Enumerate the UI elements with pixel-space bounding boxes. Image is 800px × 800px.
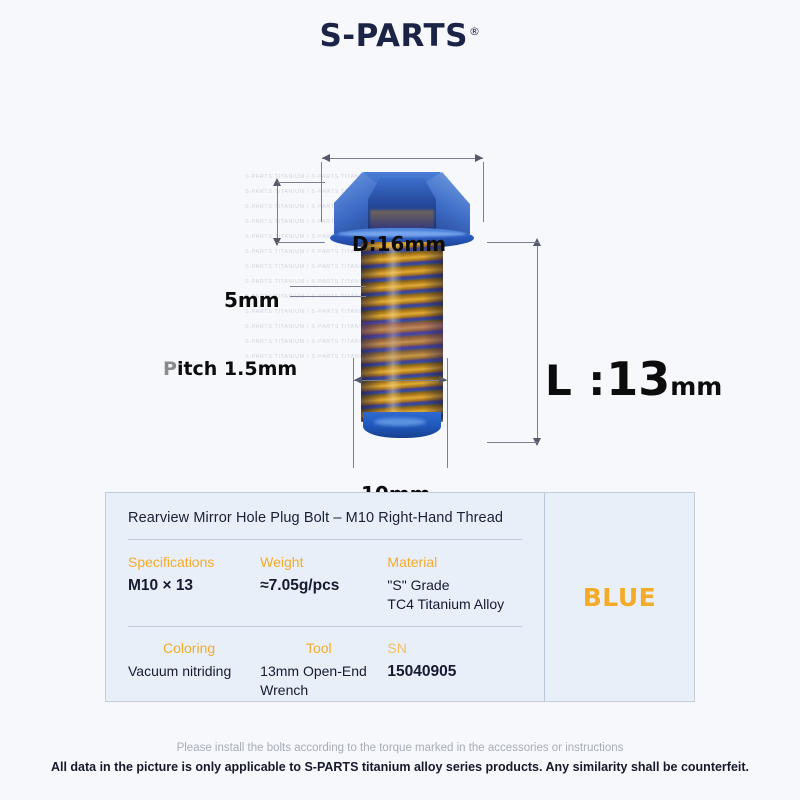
spec-value-tool-line2: Wrench <box>260 681 377 700</box>
dimension-extension-line-left-d <box>321 162 322 222</box>
spec-label-material: Material <box>387 554 534 570</box>
bolt-length-unit: mm <box>670 372 722 401</box>
spec-label-specifications: Specifications <box>128 554 250 570</box>
dimension-extension-line-bottom-length <box>487 442 539 443</box>
dimension-extension-line-bottom-head <box>277 242 325 243</box>
spec-cell-tool: Tool 13mm Open-End Wrench <box>260 640 387 700</box>
dimension-arrow-right-d <box>475 154 483 162</box>
dimension-arrow-right-shaft <box>439 376 447 384</box>
specification-main-panel: Rearview Mirror Hole Plug Bolt – M10 Rig… <box>106 493 544 701</box>
thread-pitch-label: Pitch 1.5mm <box>163 358 297 380</box>
bolt-head-iridescence <box>370 210 434 230</box>
thread-pitch-label-prefix: P <box>163 358 177 380</box>
bolt-length-value: 13 <box>606 352 670 406</box>
pitch-leader-line-upper <box>290 286 366 287</box>
spec-label-coloring: Coloring <box>128 640 250 656</box>
dimension-extension-line-top-head <box>277 182 325 183</box>
spec-value-tool-line1: 13mm Open-End <box>260 662 377 681</box>
installation-note: Please install the bolts according to th… <box>0 742 800 754</box>
specification-table: Rearview Mirror Hole Plug Bolt – M10 Rig… <box>105 492 695 702</box>
thread-pitch-label-rest: itch 1.5mm <box>177 358 297 380</box>
head-height-label: 5mm <box>224 288 280 312</box>
color-panel: BLUE <box>544 493 694 701</box>
product-illustration: S-PARTS TITANIUM / S-PARTS TITANIUM / S-… <box>0 90 800 450</box>
dimension-line-length <box>537 242 538 442</box>
spec-label-sn: SN <box>387 640 534 656</box>
dimension-extension-line-top-length <box>487 242 539 243</box>
dimension-line-head-height <box>277 182 278 242</box>
spec-label-tool: Tool <box>260 640 377 656</box>
bolt-length-label: L :13mm <box>545 356 722 402</box>
dimension-arrow-left-shaft <box>354 376 362 384</box>
dimension-arrow-left-d <box>322 154 330 162</box>
color-name-label: BLUE <box>583 583 656 612</box>
spec-label-weight: Weight <box>260 554 377 570</box>
counterfeit-warning: All data in the picture is only applicab… <box>0 760 800 774</box>
spec-value-specifications: M10 × 13 <box>128 576 250 597</box>
pitch-leader-line-lower <box>290 296 366 297</box>
spec-row-primary: Specifications M10 × 13 Weight ≈7.05g/pc… <box>106 540 544 614</box>
spec-value-material-line2: TC4 Titanium Alloy <box>387 595 534 614</box>
page-footer: Please install the bolts according to th… <box>0 742 800 774</box>
bolt-product-image <box>322 172 482 442</box>
dimension-line-shaft <box>354 380 447 381</box>
dimension-line-d <box>322 158 483 159</box>
spec-cell-material: Material "S" Grade TC4 Titanium Alloy <box>387 554 544 614</box>
spec-cell-specifications: Specifications M10 × 13 <box>128 554 260 614</box>
dimension-extension-line-left-shaft <box>353 358 354 468</box>
dimension-extension-line-right-d <box>483 162 484 222</box>
head-diameter-label: D:16mm <box>352 232 446 256</box>
brand-logo: S-PARTS® <box>319 18 480 54</box>
spec-cell-coloring: Coloring Vacuum nitriding <box>128 640 260 700</box>
spec-cell-weight: Weight ≈7.05g/pcs <box>260 554 387 614</box>
spec-value-material-line1: "S" Grade <box>387 576 534 595</box>
bolt-length-prefix: L : <box>545 356 606 405</box>
page-header: S-PARTS® <box>0 0 800 72</box>
spec-cell-sn: SN 15040905 <box>387 640 544 700</box>
spec-value-weight: ≈7.05g/pcs <box>260 576 377 597</box>
bolt-shaft-iridescence <box>361 322 443 362</box>
dimension-extension-line-right-shaft <box>447 358 448 468</box>
registered-trademark-icon: ® <box>469 25 481 38</box>
bolt-tip-highlight <box>374 418 426 426</box>
spec-value-sn: 15040905 <box>387 662 534 683</box>
spec-value-coloring: Vacuum nitriding <box>128 662 250 681</box>
brand-logo-text: S-PARTS <box>319 18 468 54</box>
product-title: Rearview Mirror Hole Plug Bolt – M10 Rig… <box>106 493 544 526</box>
spec-row-secondary: Coloring Vacuum nitriding Tool 13mm Open… <box>106 627 544 700</box>
